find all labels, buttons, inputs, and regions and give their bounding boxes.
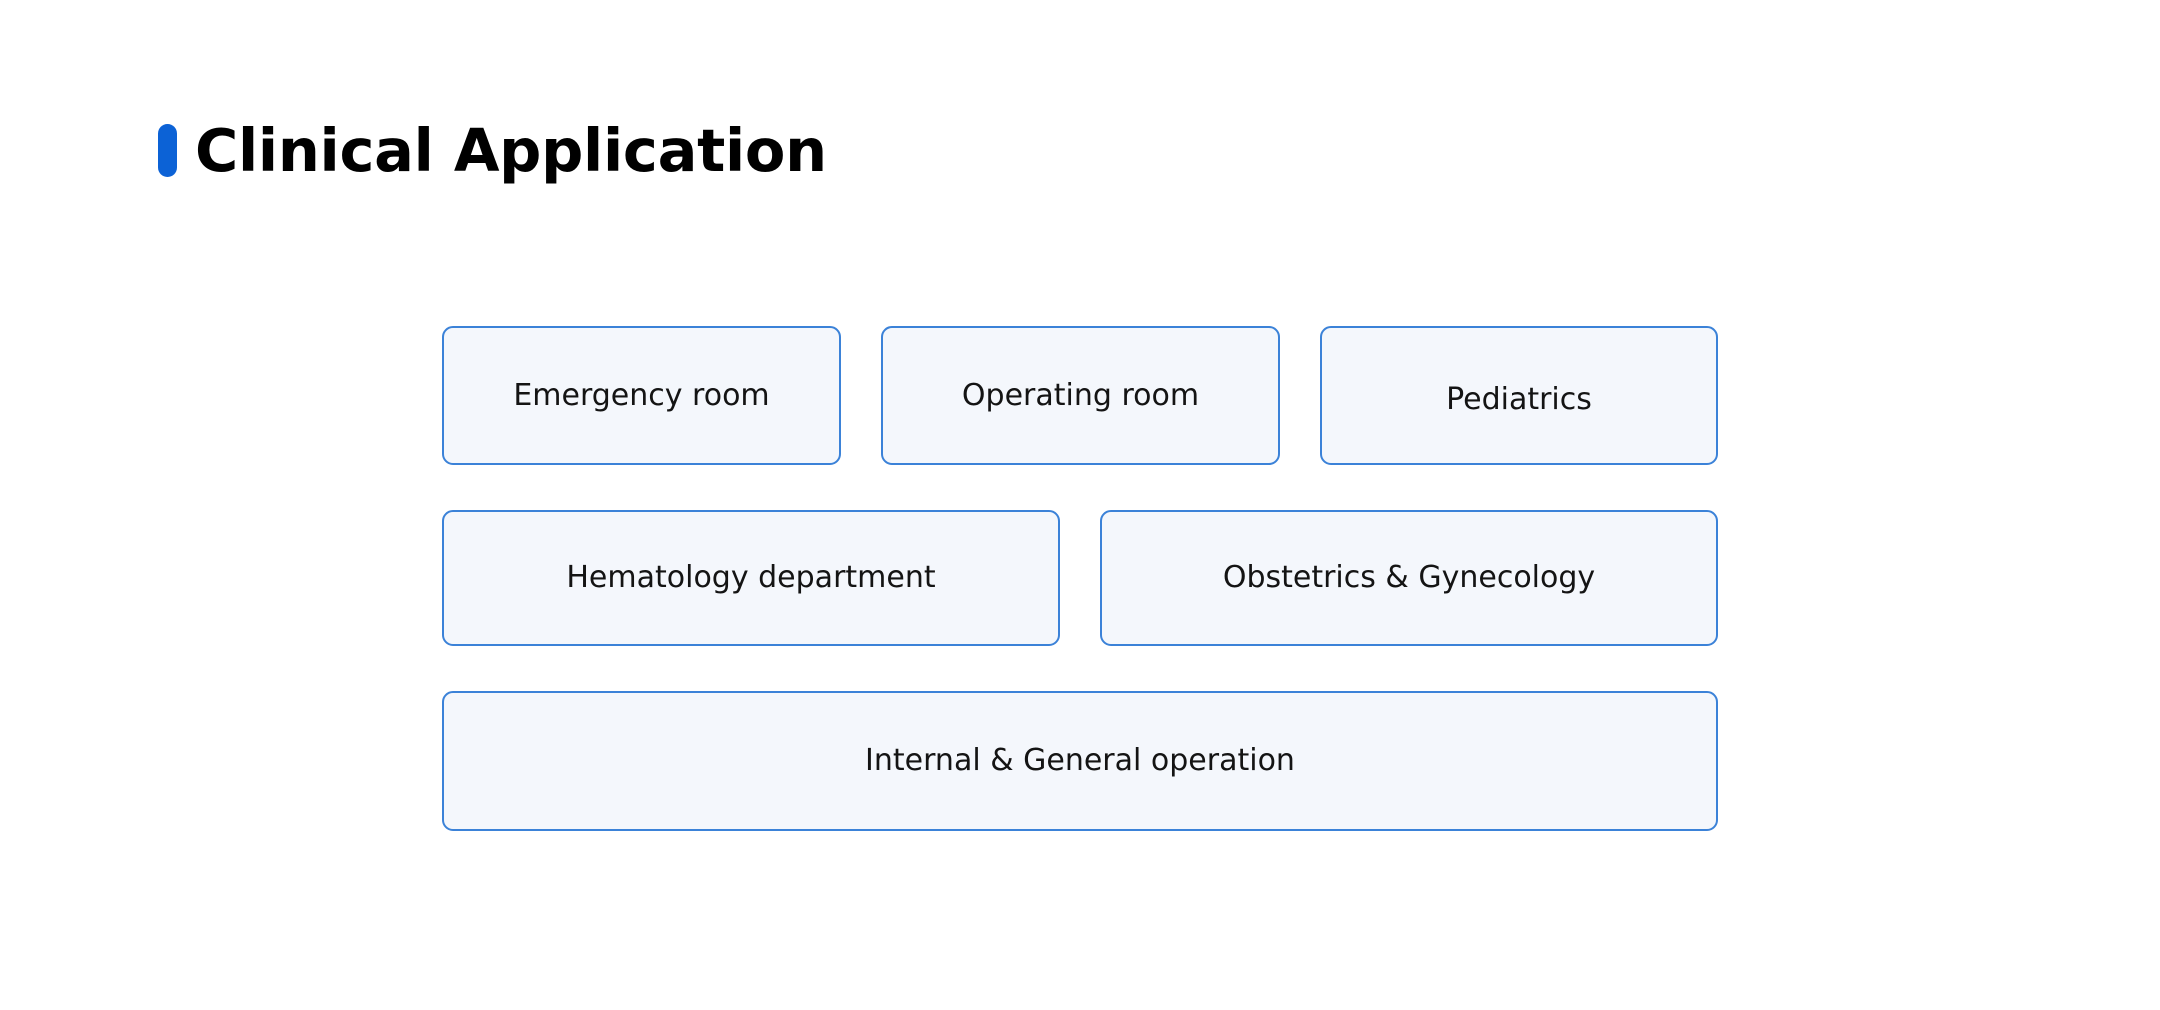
card-label: Emergency room (513, 378, 769, 414)
card-row-2: Hematology department Obstetrics & Gynec… (442, 510, 1718, 646)
card-row-1: Emergency room Operating room Pediatrics (442, 326, 1718, 465)
card-internal-general-operation[interactable]: Internal & General operation (442, 691, 1718, 831)
card-emergency-room[interactable]: Emergency room (442, 326, 841, 465)
page-header: Clinical Application (158, 112, 827, 188)
card-operating-room[interactable]: Operating room (881, 326, 1280, 465)
card-label: Pediatrics (1446, 382, 1592, 418)
card-obstetrics-gynecology[interactable]: Obstetrics & Gynecology (1100, 510, 1718, 646)
card-hematology-department[interactable]: Hematology department (442, 510, 1060, 646)
card-label: Operating room (962, 378, 1199, 414)
card-row-3: Internal & General operation (442, 691, 1718, 831)
page-title: Clinical Application (195, 121, 827, 180)
card-pediatrics[interactable]: Pediatrics (1320, 326, 1718, 465)
clinical-application-card-grid: Emergency room Operating room Pediatrics… (442, 326, 1718, 831)
page-canvas: Clinical Application Emergency room Oper… (0, 0, 2160, 1010)
card-label: Hematology department (566, 560, 935, 596)
card-label: Obstetrics & Gynecology (1223, 560, 1595, 596)
accent-bar-icon (158, 124, 177, 177)
card-label: Internal & General operation (865, 743, 1295, 779)
